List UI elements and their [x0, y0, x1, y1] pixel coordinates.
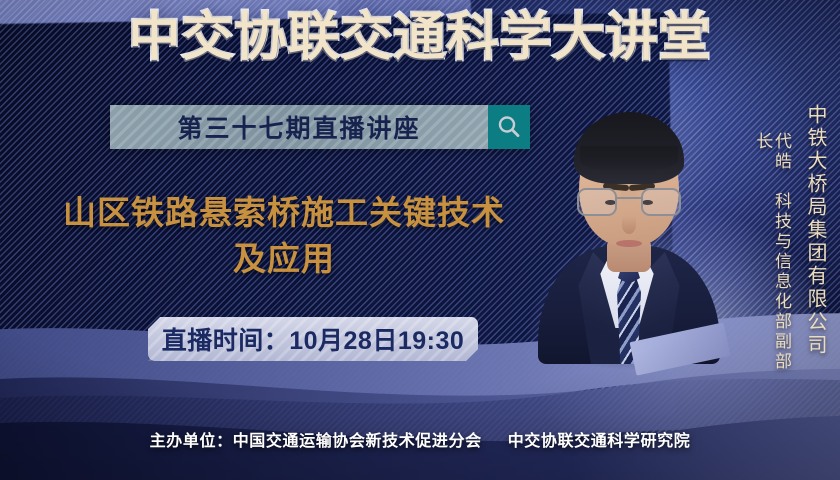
lecture-topic: 山区铁路悬索桥施工关键技术 及应用 — [24, 190, 544, 281]
footer-organizers: 主办单位：中国交通运输协会新技术促进分会中交协联交通科学研究院 — [0, 427, 840, 451]
footer-organizer-1: 中国交通运输协会新技术促进分会 — [233, 433, 482, 450]
footer-organizer-label: 主办单位： — [150, 433, 233, 450]
speaker-name-title: 代皓 科技与信息化部副部长 — [753, 132, 790, 374]
broadcast-time-badge: 直播时间：10月28日19:30 — [148, 317, 478, 361]
speaker-info: 代皓 科技与信息化部副部长 中铁大桥局集团有限公司 — [753, 104, 826, 374]
search-icon — [496, 114, 522, 140]
speaker-organization: 中铁大桥局集团有限公司 — [804, 104, 826, 357]
search-button[interactable] — [488, 105, 530, 149]
episode-bar: 第三十七期直播讲座 — [110, 105, 530, 149]
lecture-topic-line-1: 山区铁路悬索桥施工关键技术 — [24, 190, 544, 236]
footer-organizer-2: 中交协联交通科学研究院 — [508, 433, 691, 450]
broadcast-time-text: 直播时间：10月28日19:30 — [162, 321, 465, 357]
lecture-topic-line-2: 及应用 — [24, 236, 544, 282]
page-title: 中交协联交通科学大讲堂 — [0, 12, 840, 64]
episode-label-text: 第三十七期直播讲座 — [177, 109, 420, 145]
episode-label-block: 第三十七期直播讲座 — [110, 105, 488, 149]
poster-canvas: 中交协联交通科学大讲堂 第三十七期直播讲座 山区铁路悬索桥施工关键技术 及应用 … — [0, 0, 840, 480]
